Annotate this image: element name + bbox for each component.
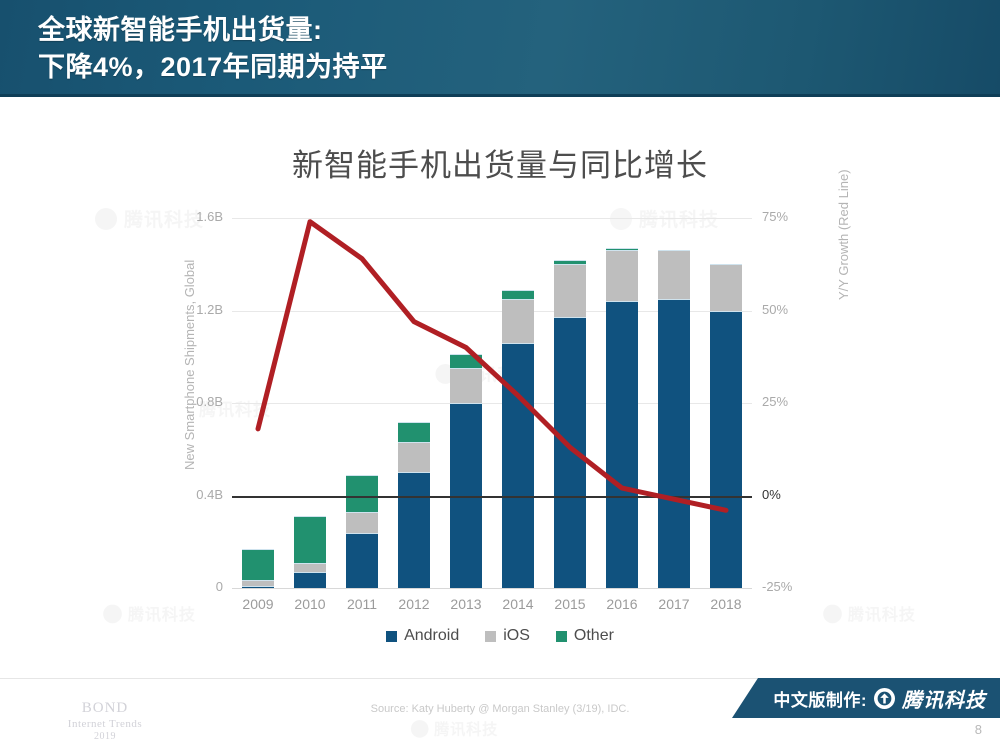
y2-axis-tick-label: 75%	[762, 209, 822, 224]
y-axis-tick-label: 0	[165, 579, 223, 594]
legend-swatch-icon	[556, 631, 567, 642]
tencent-logo-icon	[103, 604, 122, 623]
legend-swatch-icon	[386, 631, 397, 642]
slide: 全球新智能手机出货量: 下降4%，2017年同期为持平 腾讯科技 腾讯科技 腾讯…	[0, 0, 1000, 750]
bond-logo-year: 2019	[20, 731, 190, 742]
legend-item-ios[interactable]: iOS	[485, 627, 530, 645]
y2-axis-label: Y/Y Growth (Red Line)	[836, 169, 851, 300]
page-number: 8	[975, 722, 982, 737]
legend-label: Other	[574, 627, 614, 645]
legend-label: iOS	[503, 627, 530, 645]
tencent-logo-icon	[874, 688, 895, 709]
watermark-label: 腾讯科技	[848, 602, 916, 625]
y2-axis-tick-label: 50%	[762, 302, 822, 317]
chart-legend: AndroidiOSOther	[0, 627, 1000, 645]
watermark: 腾讯科技	[103, 602, 196, 625]
legend-label: Android	[404, 627, 459, 645]
tencent-credit-banner: 中文版制作: 腾讯科技	[732, 678, 1000, 718]
legend-swatch-icon	[485, 631, 496, 642]
slide-header: 全球新智能手机出货量: 下降4%，2017年同期为持平	[0, 0, 1000, 97]
watermark-label: 腾讯科技	[434, 718, 498, 740]
tencent-brand-name: 腾讯科技	[902, 684, 986, 713]
y2-axis-tick-label: -25%	[762, 579, 822, 594]
bond-logo-subtitle: Internet Trends	[20, 718, 190, 730]
page-title: 全球新智能手机出货量: 下降4%，2017年同期为持平	[38, 12, 938, 86]
y-axis-tick-label: 0.8B	[165, 394, 223, 409]
legend-item-other[interactable]: Other	[556, 627, 614, 645]
tencent-credit-prefix: 中文版制作:	[773, 686, 867, 711]
x-axis-tick-label: 2018	[691, 596, 761, 612]
chart-plot-area: 2009201020112012201320142015201620172018	[232, 218, 752, 588]
y2-axis-tick-label: 0%	[762, 487, 822, 502]
watermark: 腾讯科技	[823, 602, 916, 625]
tencent-logo-icon	[823, 604, 842, 623]
y-axis-tick-label: 1.2B	[165, 302, 223, 317]
y-axis-label: New Smartphone Shipments, Global	[182, 260, 197, 470]
tencent-logo-icon	[411, 720, 429, 738]
bond-logo-name: BOND	[20, 700, 190, 717]
y-axis-tick-label: 1.6B	[165, 209, 223, 224]
gridline	[232, 588, 752, 589]
watermark-label: 腾讯科技	[128, 602, 196, 625]
growth-line-series	[232, 218, 752, 588]
y-axis-tick-label: 0.4B	[165, 487, 223, 502]
tencent-logo-icon	[95, 208, 117, 230]
bond-logo: BOND Internet Trends 2019	[20, 700, 190, 742]
y2-axis-tick-label: 25%	[762, 394, 822, 409]
watermark: 腾讯科技	[411, 718, 498, 740]
legend-item-android[interactable]: Android	[386, 627, 459, 645]
